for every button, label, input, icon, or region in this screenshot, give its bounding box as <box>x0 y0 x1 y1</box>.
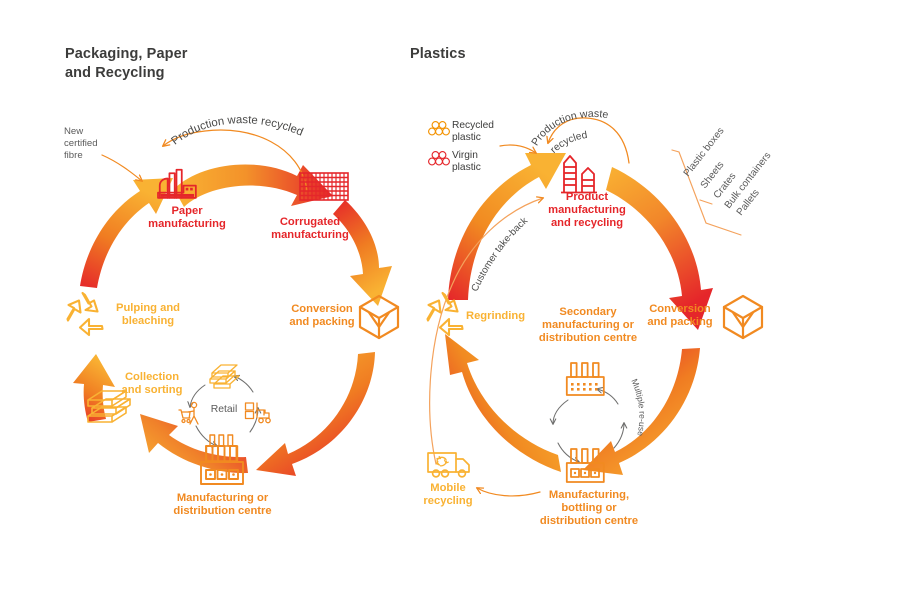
legend-virgin-plastic: Virgin plastic <box>452 150 522 174</box>
corrugated-manufacturing-l1: Corrugated <box>250 216 370 229</box>
retail-label: Retail <box>197 404 251 416</box>
product-manufacturing-and-recycling-label: Product manufacturing and recycling <box>535 191 639 231</box>
paper-arc-text-layer: Production waste recycled Production was… <box>0 0 900 600</box>
legend-virgin-l1: Virgin <box>452 150 522 162</box>
mobile-recycling-l1: Mobile <box>412 482 484 495</box>
mfg-dist-l2: distribution centre <box>155 505 290 518</box>
manufacturing-bottling-or-distribution-centre-label: Manufacturing, bottling or distribution … <box>519 489 659 529</box>
mobile-recycling-label: Mobile recycling <box>412 482 484 508</box>
paper-arc-label: Production waste recycled <box>169 114 304 147</box>
collection-and-sorting-label: Collection and sorting <box>108 371 196 397</box>
conv-pack-paper-l1: Conversion <box>282 303 362 316</box>
secondary-l3: distribution centre <box>518 332 658 345</box>
legend-recycled-l1: Recycled <box>452 120 522 132</box>
collection-l2: and sorting <box>108 384 196 397</box>
collection-l1: Collection <box>108 371 196 384</box>
paper-manufacturing-label: Paper manufacturing <box>132 205 242 231</box>
pulping-and-bleaching-label: Pulping and bleaching <box>104 302 192 328</box>
corrugated-manufacturing-label: Corrugated manufacturing <box>250 216 370 242</box>
diagram-canvas: Packaging, Paper and Recycling Packaging… <box>0 0 900 600</box>
customer-take-back-label: Customer take-back <box>470 215 530 293</box>
product-mfg-l3: and recycling <box>535 217 639 230</box>
paper-manufacturing-l2: manufacturing <box>132 218 242 231</box>
conv-pack-paper-l2: and packing <box>282 316 362 329</box>
multiple-reuse-label: Multiple re-use <box>629 377 647 437</box>
manufacturing-or-distribution-centre-label: Manufacturing or distribution centre <box>155 492 290 518</box>
legend-recycled-plastic: Recycled plastic <box>452 120 522 144</box>
legend-recycled-l2: plastic <box>452 132 522 144</box>
pulping-l1: Pulping and <box>104 302 192 315</box>
plastics-arc-label-line2: recycled <box>548 130 588 156</box>
bottling-l2: bottling or <box>519 502 659 515</box>
bottling-l3: distribution centre <box>519 515 659 528</box>
regrinding-label: Regrinding <box>466 310 546 323</box>
pulping-l2: bleaching <box>104 315 192 328</box>
paper-manufacturing-l1: Paper <box>132 205 242 218</box>
legend-virgin-l2: plastic <box>452 162 522 174</box>
corrugated-manufacturing-l2: manufacturing <box>250 229 370 242</box>
conversion-and-packing-label-paper: Conversion and packing <box>282 303 362 329</box>
product-mfg-l1: Product <box>535 191 639 204</box>
product-mfg-l2: manufacturing <box>535 204 639 217</box>
bottling-l1: Manufacturing, <box>519 489 659 502</box>
mobile-recycling-l2: recycling <box>412 495 484 508</box>
mfg-dist-l1: Manufacturing or <box>155 492 290 505</box>
